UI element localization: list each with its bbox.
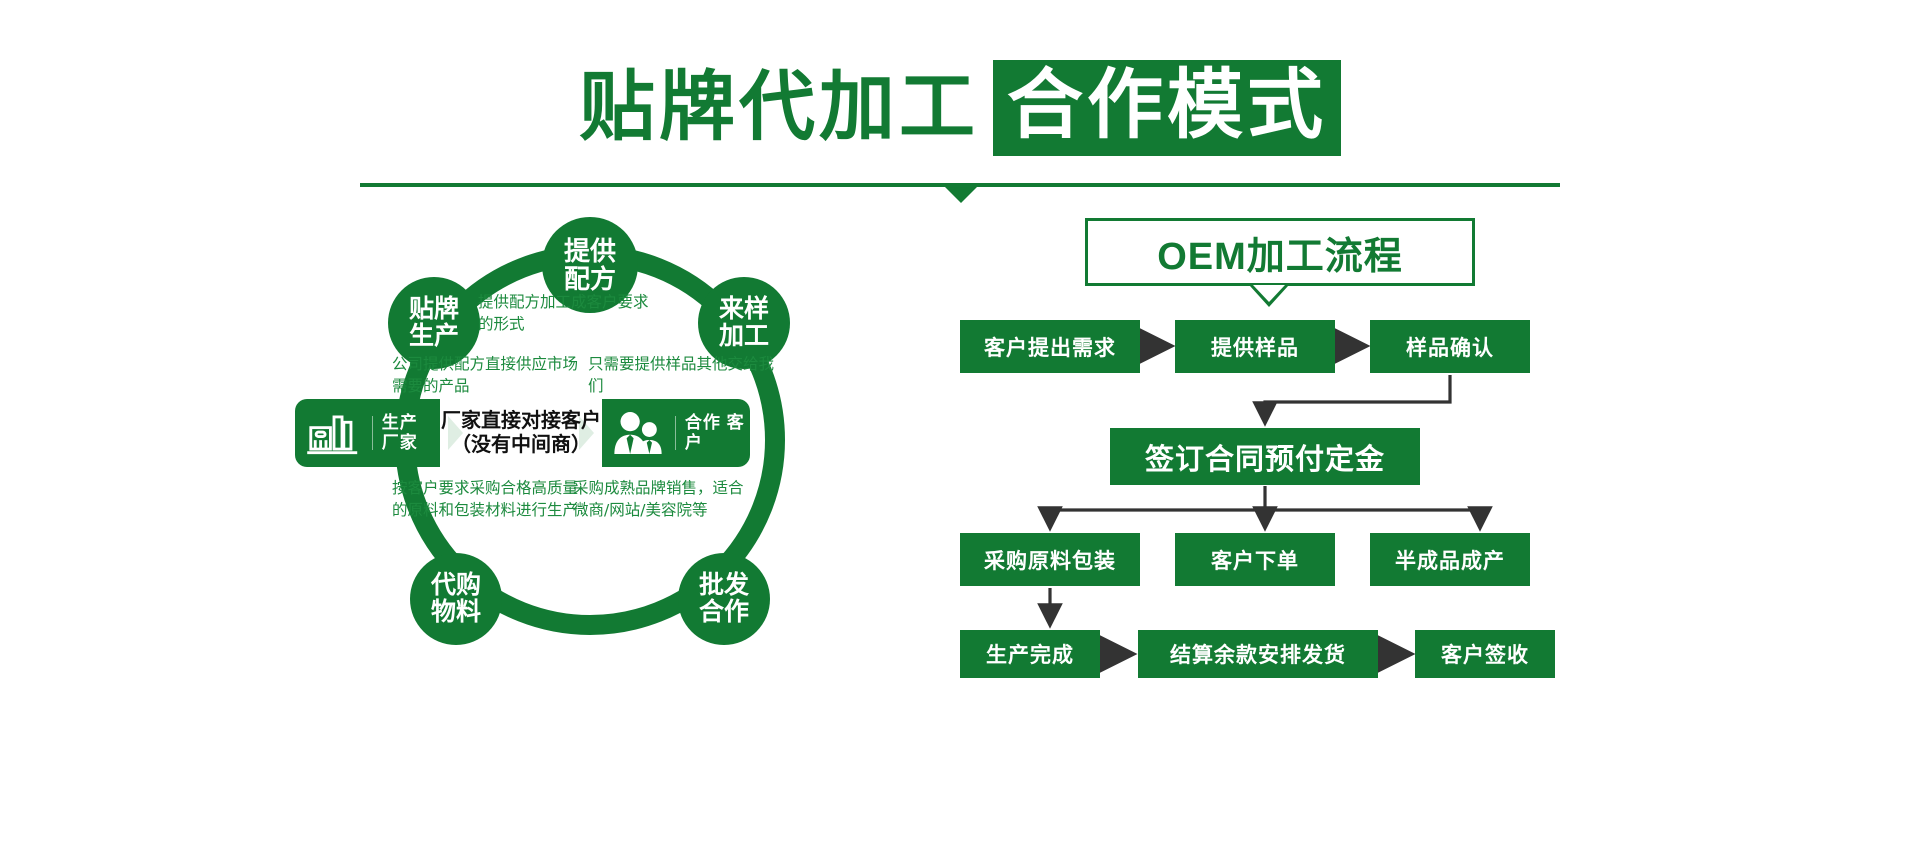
center-bar: 生产 厂家 厂家直接对接客户 （没有中间商） <box>295 399 750 467</box>
flow-box-production-complete[interactable]: 生产完成 <box>960 630 1100 678</box>
cycle-desc-top: 提供配方加工成客户要求的形式 <box>478 291 658 336</box>
node-label-line1: 来样 <box>719 296 769 323</box>
flow-box-purchase-materials[interactable]: 采购原料包装 <box>960 533 1140 586</box>
flow-box-customer-order[interactable]: 客户下单 <box>1175 533 1335 586</box>
center-bar-middle: 厂家直接对接客户 （没有中间商） <box>440 399 602 467</box>
flow-box-customer-receipt[interactable]: 客户签收 <box>1415 630 1555 678</box>
page-title: 贴牌代加工合作模式 <box>0 60 1920 156</box>
cycle-desc-bottom-right: 采购成熟品牌销售，适合微商/网站/美容院等 <box>573 477 748 522</box>
flow-box-sign-contract-deposit[interactable]: 签订合同预付定金 <box>1110 428 1420 485</box>
flow-header-label: OEM加工流程 <box>1157 225 1403 280</box>
node-label-line1: 贴牌 <box>409 296 459 323</box>
node-label-line1: 代购 <box>431 572 481 599</box>
factory-icon <box>305 408 363 458</box>
node-label-line2: 物料 <box>431 599 481 626</box>
center-bar-left: 生产 厂家 <box>295 408 440 458</box>
flow-box-customer-request[interactable]: 客户提出需求 <box>960 320 1140 373</box>
infographic-root: 贴牌代加工合作模式 提供 配方 贴牌 生产 来样 加工 代购 物料 批发 合作 … <box>0 0 1920 857</box>
node-label-line2: 生产 <box>409 323 459 350</box>
cycle-desc-bottom-left: 按客户要求采购合格高质量的原料和包装材料进行生产 <box>392 477 582 522</box>
cycle-desc-right: 只需要提供样品其他交给我们 <box>588 353 778 398</box>
node-label-line2: 加工 <box>719 323 769 350</box>
people-icon <box>610 410 666 456</box>
cycle-desc-left: 公司提供配方直接供应市场需要的产品 <box>392 353 592 398</box>
node-label-line2: 合作 <box>699 599 749 626</box>
center-bar-middle-text: 厂家直接对接客户 （没有中间商） <box>441 409 601 457</box>
cycle-node-wholesale-coop[interactable]: 批发 合作 <box>678 553 770 645</box>
page-title-main: 贴牌代加工 <box>579 70 979 146</box>
flow-header-pointer-inner-icon <box>1253 285 1285 302</box>
center-mid-line1: 厂家直接对接客户 <box>441 409 601 433</box>
flow-box-provide-sample[interactable]: 提供样品 <box>1175 320 1335 373</box>
center-bar-left-label: 生产 厂家 <box>382 413 440 452</box>
center-left-line2: 厂家 <box>382 433 418 452</box>
cycle-node-material-agency[interactable]: 代购 物料 <box>410 553 502 645</box>
center-bar-right-label: 合作 客户 <box>685 413 750 452</box>
page-title-highlight: 合作模式 <box>993 60 1341 156</box>
cycle-diagram: 提供 配方 贴牌 生产 来样 加工 代购 物料 批发 合作 提供配方加工成客户要… <box>330 215 900 705</box>
oem-flowchart: OEM加工流程 客户提出需求 <box>960 200 1860 670</box>
flow-box-sample-confirm[interactable]: 样品确认 <box>1370 320 1530 373</box>
center-left-line1: 生产 <box>382 413 418 432</box>
center-bar-divider <box>372 416 373 450</box>
flow-box-semifinished-prod[interactable]: 半成品成产 <box>1370 533 1530 586</box>
center-bar-divider-right <box>675 416 676 450</box>
flow-header-box: OEM加工流程 <box>1085 218 1475 286</box>
center-bar-right: 合作 客户 <box>602 410 750 456</box>
center-mid-line2: （没有中间商） <box>441 433 601 457</box>
node-label-line1: 提供 <box>564 237 616 265</box>
node-label-line2: 配方 <box>564 265 616 293</box>
node-label-line1: 批发 <box>699 572 749 599</box>
flow-box-settle-and-ship[interactable]: 结算余款安排发货 <box>1138 630 1378 678</box>
center-right-line1: 合作 <box>685 413 721 432</box>
